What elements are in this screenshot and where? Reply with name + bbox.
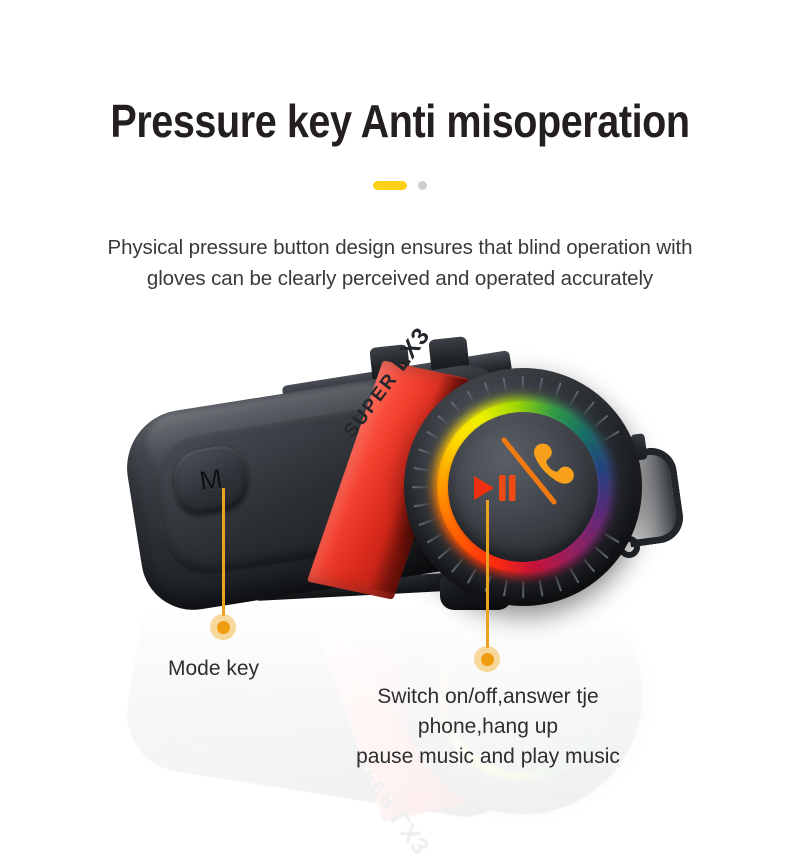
subtitle-line-2: gloves can be clearly perceived and oper… [0,263,800,294]
dial-tick [522,376,524,393]
multifunction-button[interactable] [448,412,598,562]
dial-tick [437,547,452,560]
dial-tick [554,382,562,399]
callout-line-multifunction-key [486,500,489,648]
dial-tick [594,415,609,428]
dial-tick [484,382,492,399]
callout-mode-key-text: Mode key [168,657,259,680]
page-title: Pressure key Anti misoperation [56,96,744,148]
slide-indicators [0,181,800,190]
dial-tick [538,579,543,596]
callout-label-mode-key: Mode key [168,654,259,684]
dial-tick [569,568,580,584]
dial-tick [554,575,562,592]
dial-tick [426,430,442,441]
callout-multifunction-line-2: pause music and play music [356,745,620,768]
callout-multifunction-line-1: Switch on/off,answer tje phone,hang up [377,685,598,738]
reflection-mode-label: M [198,687,224,717]
dial-tick [466,568,477,584]
dial-tick [418,448,435,456]
dial-tick [604,430,620,441]
product-stage: M SUPER LX3 M [0,318,800,800]
callout-dot-mode-key[interactable] [210,614,236,640]
dial-tick [569,390,580,406]
product-device: M SUPER LX3 [112,328,692,628]
dial-tick [594,547,609,560]
dial-tick [413,502,430,507]
dial-tick [522,581,524,598]
dial-tick [451,401,464,416]
dial-tick [604,533,620,544]
slide-indicator-1[interactable] [373,181,407,190]
dial-tick [413,467,430,472]
dial-tick [538,377,543,394]
dial-tick [418,518,435,526]
callout-line-mode-key [222,488,225,616]
dial-tick [466,390,477,406]
dial-tick [583,401,596,416]
subtitle-line-1: Physical pressure button design ensures … [0,232,800,263]
dial-tick [451,558,464,573]
page-subtitle: Physical pressure button design ensures … [0,232,800,294]
product-feature-slide: Pressure key Anti misoperation Physical … [0,0,800,800]
speaker-dial-housing [404,368,642,606]
callout-dot-multifunction-key[interactable] [474,646,500,672]
slide-indicator-2[interactable] [418,181,427,190]
dial-tick [503,377,508,394]
slash-icon [498,436,562,513]
dial-tick [412,486,429,488]
mode-key-label: M [198,465,224,495]
dial-tick [583,558,596,573]
dial-tick [437,415,452,428]
dial-tick [503,579,508,596]
dial-tick [426,533,442,544]
callout-label-multifunction-key: Switch on/off,answer tje phone,hang up p… [320,682,656,771]
